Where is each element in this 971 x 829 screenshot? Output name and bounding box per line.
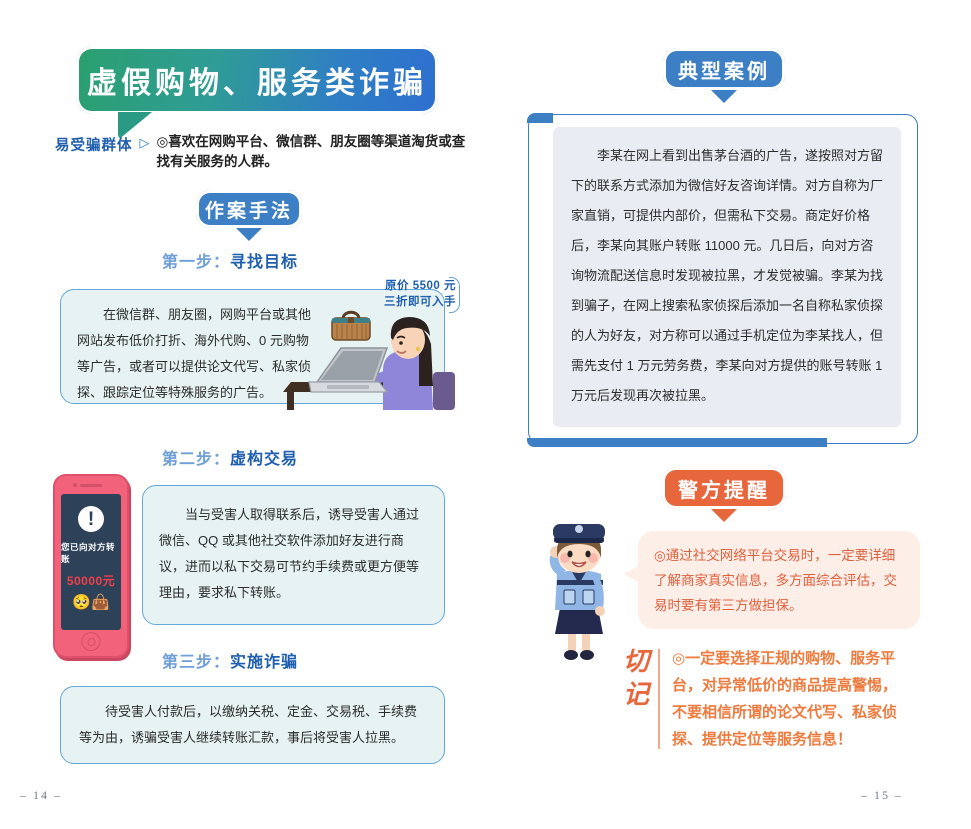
step-3-heading: 第三步：实施诈骗 [0, 648, 460, 672]
police-reminder-heading-text: 警方提醒 [678, 474, 770, 503]
phone-illustration: ! 您已向对方转账 50000元 🥺👜 [53, 474, 129, 658]
remember-label: 切记 [614, 645, 658, 711]
step-1-body-text: 在微信群、朋友圈，网购平台或其他网站发布低价打折、海外代购、0 元购物等广告，或… [77, 302, 317, 406]
page-title-text: 虚假购物、服务类诈骗 [87, 58, 427, 102]
method-bubble-tail [236, 228, 262, 241]
brochure-page: 虚假购物、服务类诈骗 易受骗群体 ▷ ◎喜欢在网购平台、微信群、朋友圈等渠道淘货… [0, 0, 971, 829]
exclamation-icon: ! [78, 506, 104, 532]
police-reminder-text: ◎通过社交网络平台交易时，一定要详细了解商家真实信息，多方面综合评估，交易时要有… [654, 548, 897, 613]
phone-transfer-amount: 50000元 [67, 572, 115, 589]
police-box-tail [624, 565, 640, 583]
case-body: 李某在网上看到出售茅台酒的广告，遂按照对方留下的联系方式添加为微信好友咨询详情。… [553, 127, 901, 427]
case-bubble-tail [711, 90, 737, 103]
step-2-ordinal: 第二步： [162, 451, 230, 468]
page-number-left: – 14 – [20, 788, 62, 803]
case-corner-top-left [527, 113, 553, 123]
remember-text: ◎一定要选择正规的购物、服务平台，对异常低价的商品提高警惕，不要相信所谓的论文代… [672, 645, 908, 753]
victim-group-text: ◎喜欢在网购平台、微信群、朋友圈等渠道淘货或查找有关服务的人群。 [157, 132, 467, 172]
phone-screen: ! 您已向对方转账 50000元 🥺👜 [61, 494, 121, 630]
case-heading: 典型案例 [663, 48, 785, 90]
case-body-text: 李某在网上看到出售茅台酒的广告，遂按照对方留下的联系方式添加为微信好友咨询详情。… [571, 141, 883, 411]
case-box: 李某在网上看到出售茅台酒的广告，遂按照对方留下的联系方式添加为微信好友咨询详情。… [528, 114, 918, 444]
sad-face-and-bag-icon: 🥺👜 [72, 595, 109, 610]
method-heading-text: 作案手法 [205, 196, 293, 223]
saluting-police-officer-icon [524, 512, 632, 662]
phone-transfer-label: 您已向对方转账 [61, 541, 121, 565]
victim-group-label: 易受骗群体 [55, 132, 133, 155]
step-2-body-box: 当与受害人取得联系后，诱导受害人通过微信、QQ 或其他社交软件添加好友进行商议，… [142, 485, 445, 625]
case-heading-text: 典型案例 [678, 55, 770, 84]
remember-block: 切记 ◎一定要选择正规的购物、服务平台，对异常低价的商品提高警惕，不要相信所谓的… [614, 645, 920, 753]
police-reminder-heading: 警方提醒 [662, 467, 786, 509]
step-1-heading: 第一步：寻找目标 [0, 248, 460, 272]
method-heading: 作案手法 [196, 190, 302, 228]
step-2-name: 虚构交易 [230, 451, 298, 468]
woman-at-laptop-icon [283, 300, 463, 410]
step-3-body-text: 待受害人付款后，以缴纳关税、定金、交易税、手续费等为由，诱骗受害人继续转账汇款，… [79, 699, 426, 751]
police-bubble-tail [711, 509, 737, 522]
step-2-body-text: 当与受害人取得联系后，诱导受害人通过微信、QQ 或其他社交软件添加好友进行商议，… [159, 502, 428, 606]
phone-camera-icon [73, 483, 77, 487]
step-3-ordinal: 第三步： [162, 654, 230, 671]
remember-divider [658, 649, 660, 749]
page-number-right: – 15 – [861, 788, 903, 803]
step-3-body-box: 待受害人付款后，以缴纳关税、定金、交易税、手续费等为由，诱骗受害人继续转账汇款，… [60, 686, 445, 764]
police-reminder-box: ◎通过社交网络平台交易时，一定要详细了解商家真实信息，多方面综合评估，交易时要有… [638, 531, 920, 629]
price-original: 原价 5500 元 [350, 278, 456, 294]
step-1-ordinal: 第一步： [162, 254, 230, 271]
triangle-right-icon: ▷ [140, 132, 150, 151]
phone-speaker-icon [80, 484, 102, 487]
victim-group-row: 易受骗群体 ▷ ◎喜欢在网购平台、微信群、朋友圈等渠道淘货或查找有关服务的人群。 [55, 132, 475, 172]
step-3-name: 实施诈骗 [230, 654, 298, 671]
page-title: 虚假购物、服务类诈骗 [76, 46, 438, 114]
step-1-name: 寻找目标 [230, 254, 298, 271]
step-2-heading: 第二步：虚构交易 [0, 445, 460, 469]
case-corner-bottom-left [527, 438, 827, 447]
